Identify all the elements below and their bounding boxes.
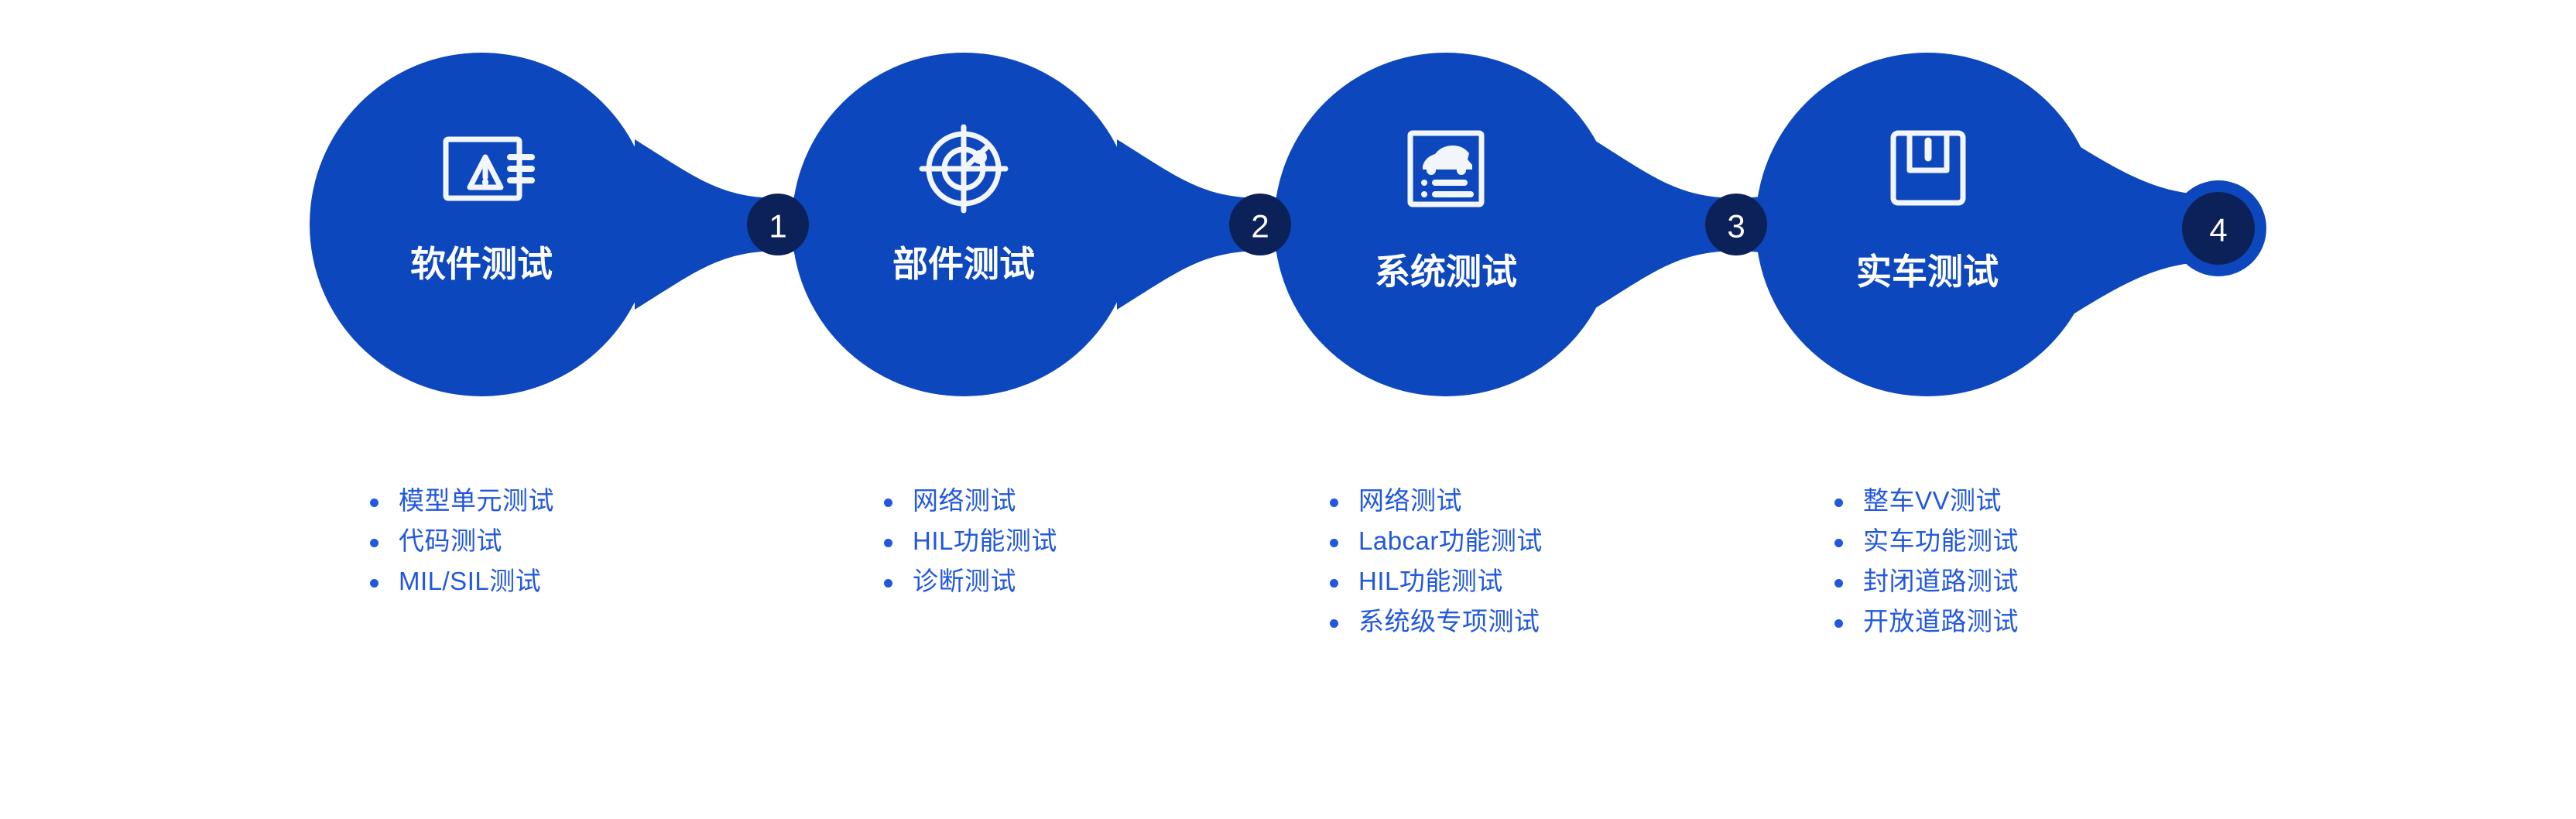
list-item[interactable]: HIL功能测试 <box>884 528 1057 553</box>
list-item[interactable]: 开放道路测试 <box>1834 608 2019 634</box>
stage-list-1: 模型单元测试 代码测试 MIL/SIL测试 <box>370 488 554 608</box>
bullet-dot-icon <box>370 579 379 588</box>
list-item[interactable]: Labcar功能测试 <box>1330 528 1543 553</box>
list-item[interactable]: 封闭道路测试 <box>1834 568 2019 594</box>
stage-detail-lists: 模型单元测试 代码测试 MIL/SIL测试 网络测试 HIL功能测试 <box>0 0 2576 819</box>
bullet-dot-icon <box>1330 499 1338 507</box>
list-item[interactable]: HIL功能测试 <box>1330 568 1543 594</box>
bullet-dot-icon <box>1834 539 1843 547</box>
bullet-dot-icon <box>1834 499 1843 507</box>
bullet-dot-icon <box>1330 619 1338 628</box>
list-item[interactable]: 实车功能测试 <box>1834 528 2019 553</box>
bullet-dot-icon <box>370 539 379 547</box>
list-item[interactable]: MIL/SIL测试 <box>370 568 554 594</box>
list-item-label: HIL功能测试 <box>1358 568 1503 594</box>
list-item[interactable]: 模型单元测试 <box>370 488 554 513</box>
list-item-label: MIL/SIL测试 <box>399 568 541 594</box>
list-item-label: 封闭道路测试 <box>1863 568 2019 594</box>
stage-list-4: 整车VV测试 实车功能测试 封闭道路测试 开放道路测试 <box>1834 488 2019 649</box>
list-item[interactable]: 网络测试 <box>884 488 1057 513</box>
list-item-label: 整车VV测试 <box>1863 488 2002 513</box>
bullet-dot-icon <box>1330 539 1338 547</box>
bullet-dot-icon <box>884 499 892 507</box>
bullet-dot-icon <box>1834 579 1843 588</box>
bullet-dot-icon <box>884 539 892 547</box>
list-item-label: 系统级专项测试 <box>1358 608 1540 634</box>
bullet-dot-icon <box>1834 619 1843 628</box>
list-item[interactable]: 整车VV测试 <box>1834 488 2019 513</box>
list-item[interactable]: 系统级专项测试 <box>1330 608 1543 634</box>
bullet-dot-icon <box>370 499 379 507</box>
bullet-dot-icon <box>884 579 892 588</box>
stage-list-3: 网络测试 Labcar功能测试 HIL功能测试 系统级专项测试 <box>1330 488 1543 649</box>
list-item-label: Labcar功能测试 <box>1358 528 1543 553</box>
list-item-label: 代码测试 <box>399 528 502 553</box>
diagram-canvas: 软件测试 部件测试 系统测试 实车测试 1 2 3 4 模型单元测试 <box>0 0 2576 819</box>
list-item-label: 开放道路测试 <box>1863 608 2019 634</box>
list-item-label: HIL功能测试 <box>913 528 1057 553</box>
stage-list-2: 网络测试 HIL功能测试 诊断测试 <box>884 488 1057 608</box>
list-item-label: 网络测试 <box>1358 488 1462 513</box>
list-item[interactable]: 网络测试 <box>1330 488 1543 513</box>
bullet-dot-icon <box>1330 579 1338 588</box>
list-item[interactable]: 诊断测试 <box>884 568 1057 594</box>
list-item-label: 实车功能测试 <box>1863 528 2019 553</box>
list-item[interactable]: 代码测试 <box>370 528 554 553</box>
list-item-label: 诊断测试 <box>913 568 1016 594</box>
list-item-label: 模型单元测试 <box>399 488 554 513</box>
list-item-label: 网络测试 <box>913 488 1016 513</box>
